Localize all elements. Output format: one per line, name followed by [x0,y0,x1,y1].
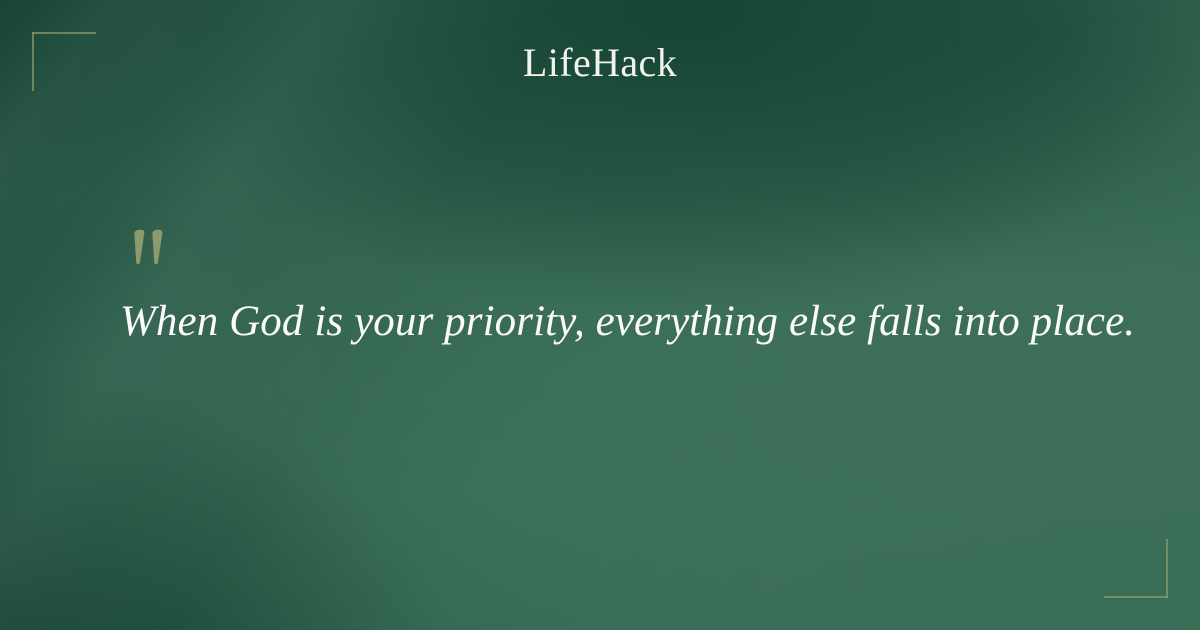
bracket-horizontal-rule [32,32,96,34]
quote-mark-icon [131,229,175,265]
corner-bracket-bottom-right-icon [1104,539,1168,598]
quote-card: LifeHack When God is your priority, ever… [0,0,1200,630]
quote-text: When God is your priority, everything el… [120,296,1100,348]
bracket-vertical-rule [1166,539,1168,598]
bracket-horizontal-rule [1104,596,1168,598]
brand-wordmark: LifeHack [0,41,1200,85]
